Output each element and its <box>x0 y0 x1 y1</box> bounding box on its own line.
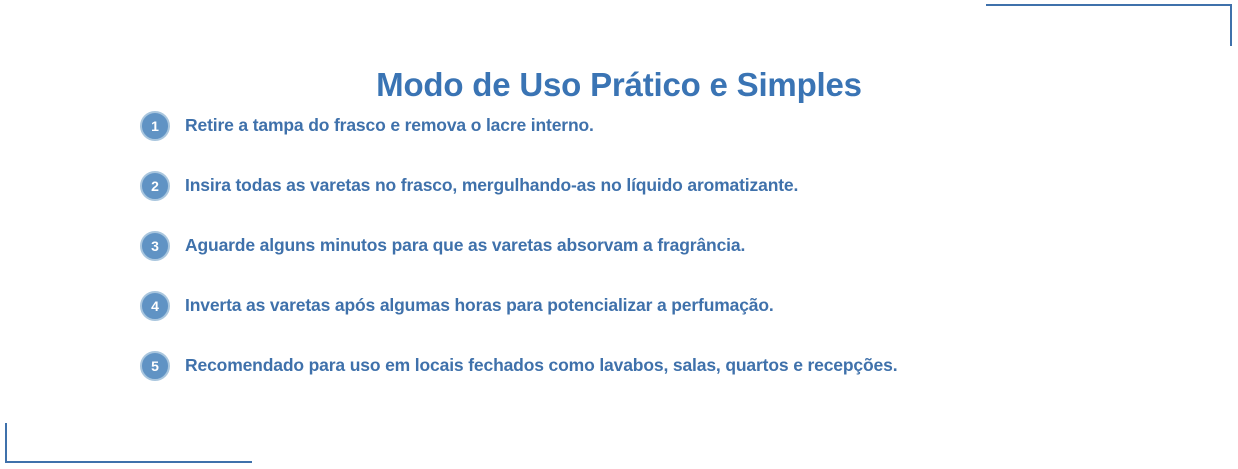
step-text: Recomendado para uso em locais fechados … <box>185 357 897 375</box>
list-item: 3 Aguarde alguns minutos para que as var… <box>140 230 897 262</box>
page-title: Modo de Uso Prático e Simples <box>0 66 1238 104</box>
steps-list: 1 Retire a tampa do frasco e remova o la… <box>140 110 897 382</box>
step-text: Inverta as varetas após algumas horas pa… <box>185 297 774 315</box>
instructions-poster: Modo de Uso Prático e Simples 1 Retire a… <box>0 0 1238 469</box>
corner-bracket-bottom-left-icon <box>5 423 252 463</box>
step-number-badge: 3 <box>140 231 170 261</box>
step-number-badge: 4 <box>140 291 170 321</box>
step-text: Retire a tampa do frasco e remova o lacr… <box>185 117 594 135</box>
step-number-badge: 5 <box>140 351 170 381</box>
corner-bracket-top-right-icon <box>986 4 1232 46</box>
step-number-badge: 1 <box>140 111 170 141</box>
list-item: 5 Recomendado para uso em locais fechado… <box>140 350 897 382</box>
step-text: Aguarde alguns minutos para que as varet… <box>185 237 745 255</box>
list-item: 2 Insira todas as varetas no frasco, mer… <box>140 170 897 202</box>
list-item: 1 Retire a tampa do frasco e remova o la… <box>140 110 897 142</box>
step-text: Insira todas as varetas no frasco, mergu… <box>185 177 798 195</box>
list-item: 4 Inverta as varetas após algumas horas … <box>140 290 897 322</box>
step-number-badge: 2 <box>140 171 170 201</box>
